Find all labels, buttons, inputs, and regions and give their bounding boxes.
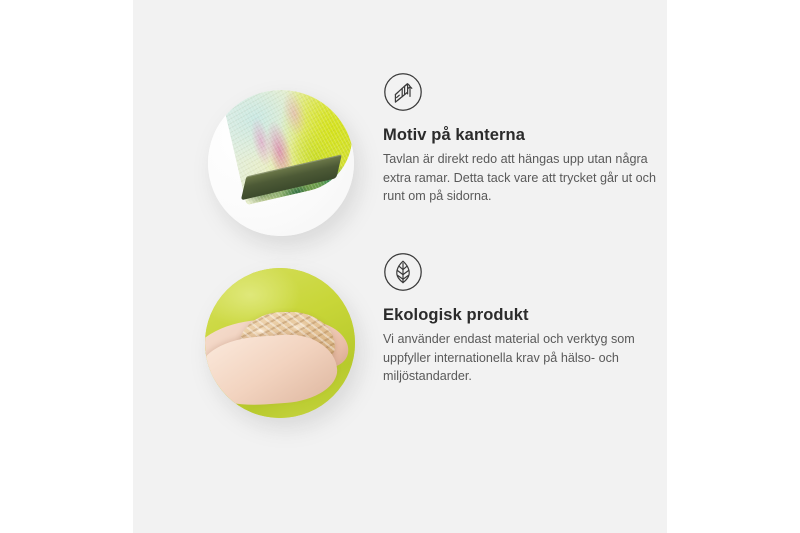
feature-title: Ekologisk produkt — [383, 306, 663, 325]
feature-text-eco-product: Ekologisk produkt Vi använder endast mat… — [383, 252, 663, 386]
feature-body: Tavlan är direkt redo att hängas upp uta… — [383, 150, 663, 206]
feature-title: Motiv på kanterna — [383, 126, 663, 145]
product-feature-infographic: Motiv på kanterna Tavlan är direkt redo … — [0, 0, 800, 533]
canvas-corner-photo — [208, 90, 354, 236]
grass-backdrop — [205, 268, 355, 418]
feature-body: Vi använder endast material och verktyg … — [383, 330, 663, 386]
canvas-photo-backdrop — [208, 90, 354, 236]
feature-text-canvas-edges: Motiv på kanterna Tavlan är direkt redo … — [383, 72, 663, 206]
content-panel: Motiv på kanterna Tavlan är direkt redo … — [133, 0, 667, 533]
leaf-icon — [383, 252, 423, 292]
canvas-block — [221, 90, 354, 221]
canvas-wrapped-edges-icon — [383, 72, 423, 112]
hands-wood-chips-photo — [205, 268, 355, 418]
feature-block-canvas-edges: Motiv på kanterna Tavlan är direkt redo … — [133, 72, 667, 247]
hand-front — [205, 331, 339, 408]
feature-block-eco-product: Ekologisk produkt Vi använder endast mat… — [133, 252, 667, 427]
